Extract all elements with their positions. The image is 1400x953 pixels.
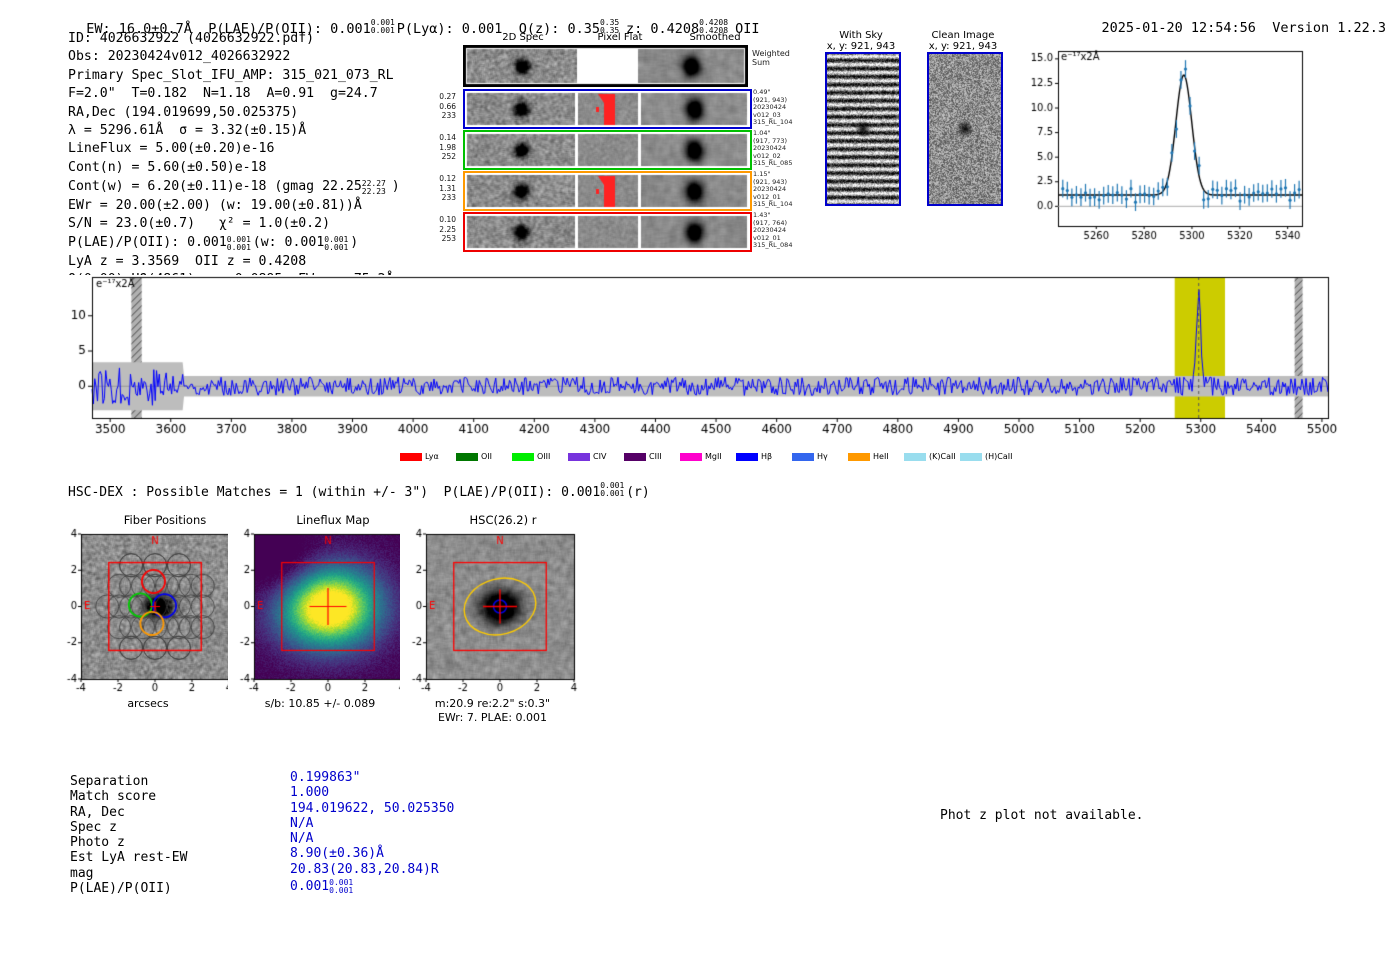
match-row-value: N/A [290,816,454,831]
legend-item: CIII [624,452,662,461]
panel-title-hsc: HSC(26.2) r [398,513,608,527]
with-sky-image [825,52,901,206]
legend-item: CIV [568,452,606,461]
match-row-label: Separation [70,774,187,789]
full-spectrum-plot [60,275,1340,450]
info-line: λ = 5296.61Å σ = 3.32(±0.15)Å [68,122,400,140]
match-row-label: P(LAE)/P(OII) [70,881,187,896]
cutout-weighted-sum-row [463,45,748,87]
info-line: RA,Dec (194.019699,50.025375) [68,104,400,122]
cutout-number: 0.12 [420,174,456,184]
cutout-number: 1.31 [420,184,456,194]
emission-line-zoom-plot [1020,35,1310,260]
legend-swatch [400,453,422,461]
match-row-value: 8.90(±0.36)Å [290,846,454,861]
cutout-number: 0.66 [420,102,456,112]
legend-label: CIII [649,452,662,461]
lineflux-map-plot [228,528,408,703]
cutout-row-numbers: 0.121.31233 [420,174,456,203]
legend-item: (K)CaII [904,452,956,461]
cutout-title-smoothed: Smoothed [670,32,760,43]
cutout-row-meta: 1.15"(921, 943)20230424v012_01315_RL_104 [753,171,823,209]
cutout-title-pixelflat: Pixel Flat [575,32,665,43]
info-line: LineFlux = 5.00(±0.20)e-16 [68,140,400,158]
cutout-number: 2.25 [420,225,456,235]
legend-item: MgII [680,452,722,461]
cutout-number: 253 [420,234,456,244]
cutout-number: 0.14 [420,133,456,143]
with-sky-sub: x, y: 921, 943 [818,41,904,52]
gmag-sup: 22.2722.23 [362,177,392,190]
fiber-xlabel: arcsecs [58,697,238,710]
timestamp: 2025-01-20 12:54:56 [1102,20,1256,36]
cutout-row-numbers: 0.270.66233 [420,92,456,121]
cutout-number: 233 [420,193,456,203]
plae-w-sup: 0.0010.001 [324,233,350,246]
match-row-value: 1.000 [290,785,454,800]
cutout-number: 1.98 [420,143,456,153]
sky-panel-with-sky: With Sky x, y: 921, 943 [818,30,904,206]
cutout-image-strip [463,89,752,129]
info-cont-w: Cont(w) = 6.20(±0.11)e-18 (gmag 22.2522.… [68,177,400,196]
cutout-image-strip [463,130,752,170]
info-line: Cont(n) = 5.60(±0.50)e-18 [68,159,400,177]
match-value-sup: 0.0010.001 [329,877,355,890]
info-line: ID: 4026632922 (4026632922.pdf) [68,30,400,48]
hsc-image-plot [400,528,580,703]
match-row-label: Spec z [70,820,187,835]
legend-swatch [904,453,926,461]
cutout-number: 252 [420,152,456,162]
cutout-row-numbers: 0.141.98252 [420,133,456,162]
match-row-value: 0.199863" [290,770,454,785]
info-line: Obs: 20230424v012_4026632922 [68,48,400,66]
legend-item: OII [456,452,492,461]
cutout-row-meta: 0.49"(921, 943)20230424v012_03315_RL_104 [753,89,823,127]
legend-label: MgII [705,452,722,461]
legend-item: OIII [512,452,550,461]
cutout-meta-line: 315_RL_104 [753,119,823,127]
cutout-image-strip [463,171,752,211]
legend-item: HeII [848,452,889,461]
legend-label: Hγ [817,452,828,461]
legend-item: Lyα [400,452,439,461]
legend-label: (K)CaII [929,452,956,461]
match-row-label: mag [70,866,187,881]
match-row-value: 194.019622, 50.025350 [290,801,454,816]
info-block: ID: 4026632922 (4026632922.pdf) Obs: 202… [68,30,400,290]
fiber-positions-plot [55,528,235,703]
legend-swatch [512,453,534,461]
match-row-label: RA, Dec [70,805,187,820]
cutout-title-2dspec: 2D Spec [478,32,568,43]
cutout-row-meta: 1.04"(917, 773)20230424v012_02315_RL_085 [753,130,823,168]
hsc-caption-2: EWr: 7. PLAE: 0.001 [400,711,585,724]
cutout-number: 0.27 [420,92,456,102]
match-row-value: 20.83(20.83,20.84)R [290,862,454,877]
hscdex-plae-sup: 0.0010.001 [600,483,626,496]
legend-item: Hβ [736,452,772,461]
cutout-image-strip [463,212,752,252]
match-table-values: 0.199863"1.000194.019622, 50.025350N/AN/… [290,770,454,894]
info-line: F=2.0" T=0.182 N=1.18 A=0.91 g=24.7 [68,85,400,103]
legend-swatch [736,453,758,461]
legend-swatch [680,453,702,461]
legend-swatch [456,453,478,461]
match-row-label: Est LyA rest-EW [70,850,187,865]
info-line: Primary Spec_Slot_IFU_AMP: 315_021_073_R… [68,67,400,85]
cutout-row-meta: 1.43"(917, 764)20230424v012_01315_RL_084 [753,212,823,250]
legend-label: Lyα [425,452,439,461]
cutout-meta-line: 315_RL_084 [753,242,823,250]
sky-panel-clean: Clean Image x, y: 921, 943 [920,30,1006,206]
hscdex-heading: HSC-DEX : Possible Matches = 1 (within +… [68,483,650,500]
legend-item: (H)CaII [960,452,1012,461]
clean-image [927,52,1003,206]
legend-swatch [848,453,870,461]
hsc-caption-1: m:20.9 re:2.2" s:0.3" [400,697,585,710]
cutout-meta-line: 315_RL_104 [753,201,823,209]
with-sky-title: With Sky [818,30,904,41]
plae-sup: 0.0010.001 [227,233,253,246]
info-ewr: EWr = 20.00(±2.00) (w: 19.00(±0.81))Å [68,197,400,215]
legend-label: (H)CaII [985,452,1012,461]
legend-label: Hβ [761,452,772,461]
legend-label: HeII [873,452,889,461]
cutout-meta-line: 315_RL_085 [753,160,823,168]
match-row-label: Match score [70,789,187,804]
match-row-label: Photo z [70,835,187,850]
header-timestamp-version: 2025-01-20 12:54:56 Version 1.22.3 [1085,4,1386,36]
weighted-sum-label: WeightedSum [752,50,790,67]
legend-label: OII [481,452,492,461]
legend-swatch [624,453,646,461]
lineflux-caption-1: s/b: 10.85 +/- 0.089 [230,697,410,710]
legend-swatch [792,453,814,461]
version-label: Version 1.22.3 [1272,20,1386,36]
legend-swatch [568,453,590,461]
clean-image-sub: x, y: 921, 943 [920,41,1006,52]
legend-label: CIV [593,452,606,461]
match-row-value: 0.0010.0010.001 [290,877,454,894]
cutout-row-numbers: 0.102.25253 [420,215,456,244]
match-row-value: N/A [290,831,454,846]
legend-swatch [960,453,982,461]
photz-message: Phot z plot not available. [940,808,1144,823]
cutout-number: 233 [420,111,456,121]
clean-image-title: Clean Image [920,30,1006,41]
match-table-labels: SeparationMatch scoreRA, DecSpec zPhoto … [70,774,187,896]
legend-item: Hγ [792,452,828,461]
legend-label: OIII [537,452,550,461]
info-plae: P(LAE)/P(OII): 0.0010.0010.001(w: 0.0010… [68,233,400,252]
spectrum-legend: LyαOIIOIIICIVCIIIMgIIHβHγHeII(K)CaII(H)C… [0,452,1400,468]
cutout-number: 0.10 [420,215,456,225]
